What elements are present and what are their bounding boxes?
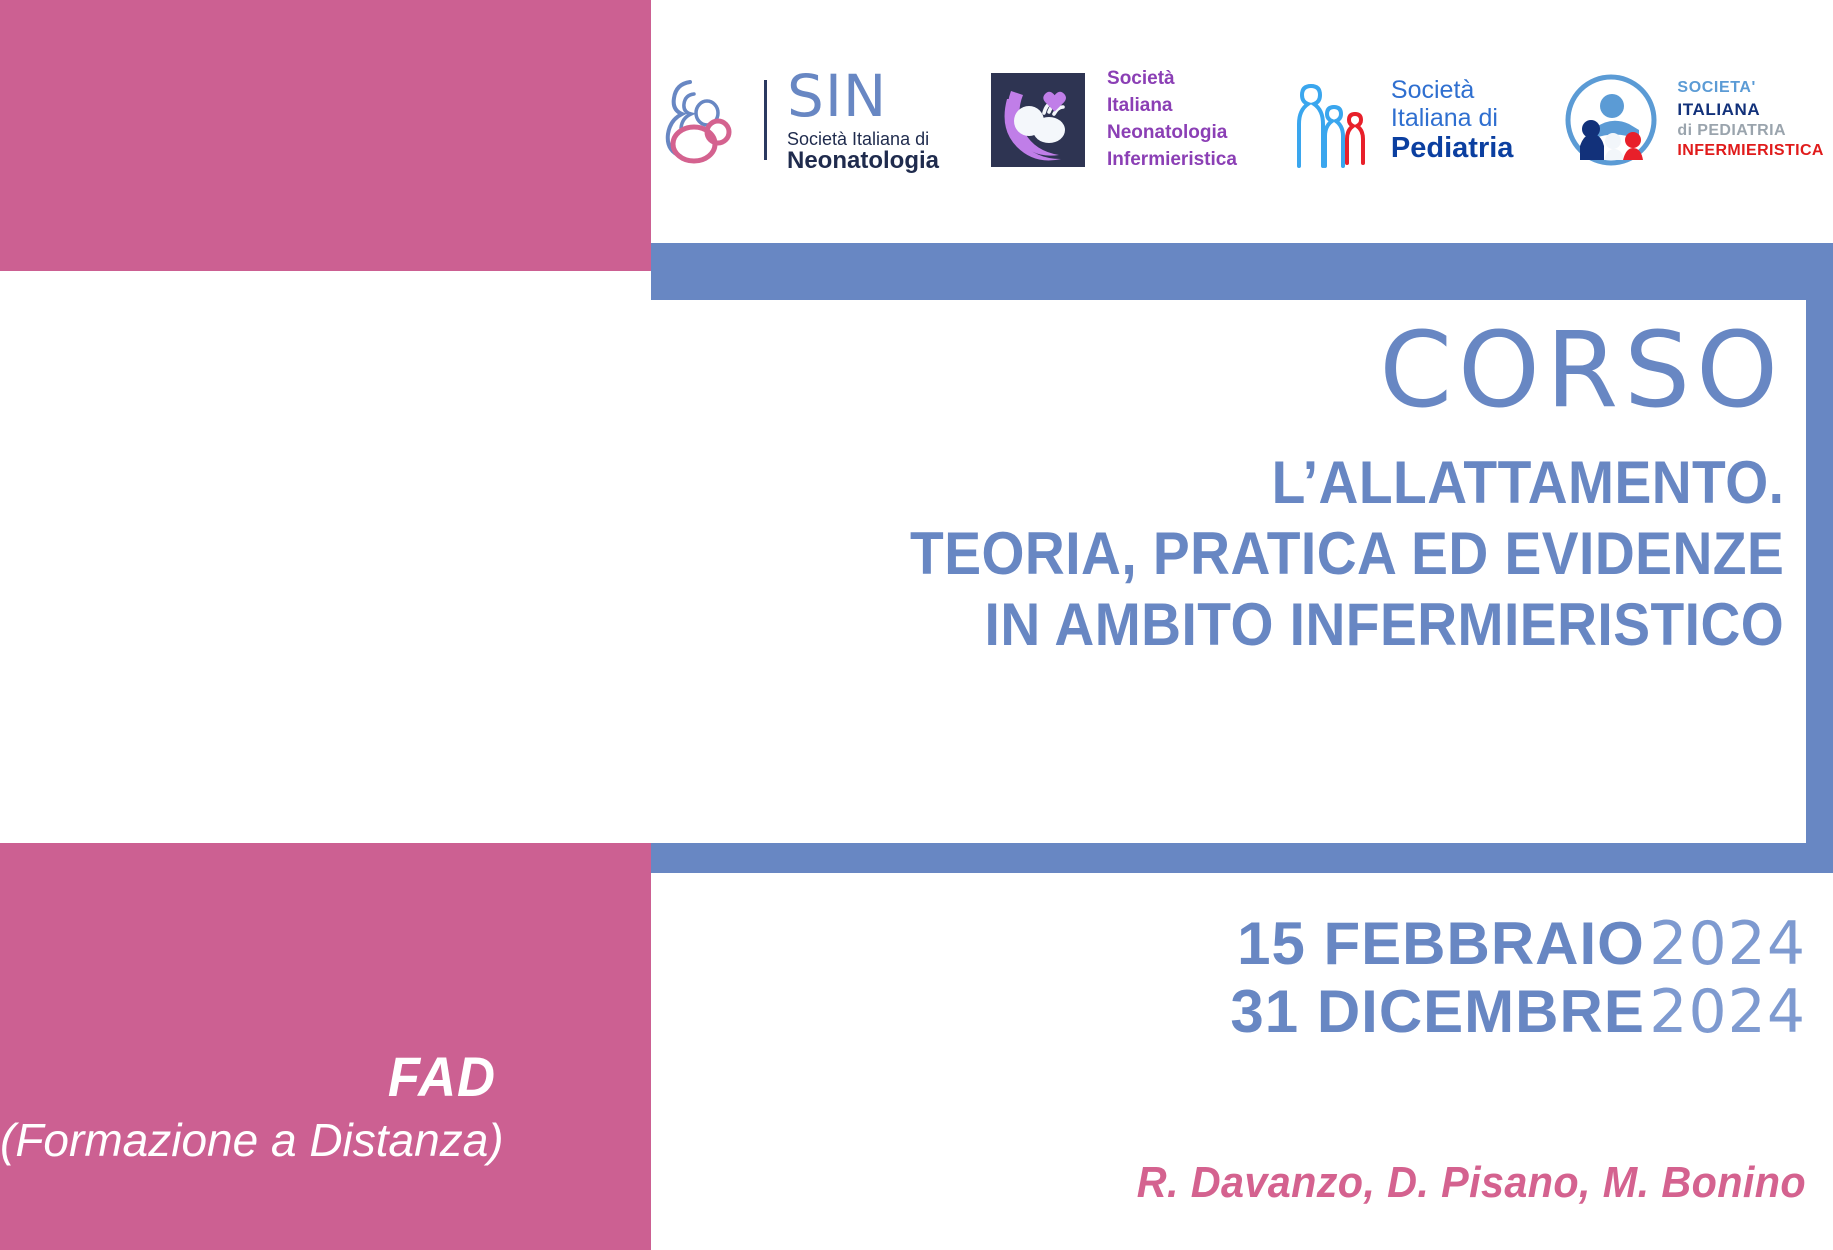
three-figures-icon [1289,72,1373,168]
sipinf-line-1: SOCIETA' [1677,78,1823,99]
pink-block-top [0,0,651,271]
date-end-row: 31 DICEMBRE 2024 [906,978,1806,1046]
date-start-daymonth: 15 FEBBRAIO [1237,910,1645,977]
sip-line-3: Pediatria [1391,132,1514,164]
sipinf-line-2: ITALIANA [1677,99,1823,121]
sinin-line-2: Italiana [1107,93,1237,120]
sin-subtitle-line1: Società Italiana di [787,130,939,148]
fad-title: FAD [30,1048,496,1107]
blue-frame-bottom-bar [651,843,1833,873]
moon-baby-heart-icon [991,73,1085,167]
sipinf-line-4: INFERMIERISTICA [1677,141,1823,162]
course-title-block: CORSO L’ALLATTAMENTO. TEORIA, PRATICA ED… [651,300,1806,843]
sip-line-1: Società [1391,76,1514,104]
sinin-line-3: Neonatologia [1107,120,1237,147]
sinin-line-1: Società [1107,66,1237,93]
sinin-line-4: Infermieristica [1107,147,1237,174]
blue-frame-top-bar [651,243,1833,300]
sin-acronym: SIN [787,67,939,125]
course-dates: 15 FEBBRAIO 2024 31 DICEMBRE 2024 [906,910,1806,1046]
blue-frame-right-bar [1806,243,1833,873]
logo-sin-infermieristica: Società Italiana Neonatologia Infermieri… [991,66,1237,174]
sin-subtitle-line2: Neonatologia [787,149,939,173]
title-kicker: CORSO [1379,318,1784,422]
title-line-1: L’ALLATTAMENTO. [1271,448,1784,519]
date-start-year: 2024 [1649,909,1806,979]
fad-block: FAD (Formazione a Distanza) [0,1048,651,1165]
title-line-2: TEORIA, PRATICA ED EVIDENZE [910,519,1784,590]
logo-sin: SIN Società Italiana di Neonatologia [660,67,939,173]
logo-sip: Società Italiana di Pediatria [1289,72,1514,168]
poster-canvas: SIN Società Italiana di Neonatologia [0,0,1833,1250]
date-end-year: 2024 [1649,977,1806,1047]
pink-block-bottom [0,843,651,1250]
sin-divider [764,80,767,160]
sip-line-2: Italiana di [1391,104,1514,132]
fad-subtitle: (Formazione a Distanza) [0,1115,496,1166]
authors-line: R. Davanzo, D. Pisano, M. Bonino [866,1158,1806,1208]
title-line-3: IN AMBITO INFERMIERISTICO [984,590,1784,661]
date-start-row: 15 FEBBRAIO 2024 [906,910,1806,978]
logo-sipinf: SOCIETA' ITALIANA di PEDIATRIA INFERMIER… [1565,74,1823,166]
date-end-daymonth: 31 DICEMBRE [1230,978,1644,1045]
family-circle-icon [1565,74,1657,166]
logo-strip: SIN Società Italiana di Neonatologia [660,40,1810,200]
sipinf-line-3: di PEDIATRIA [1677,121,1823,142]
sin-mother-child-icon [660,74,744,166]
